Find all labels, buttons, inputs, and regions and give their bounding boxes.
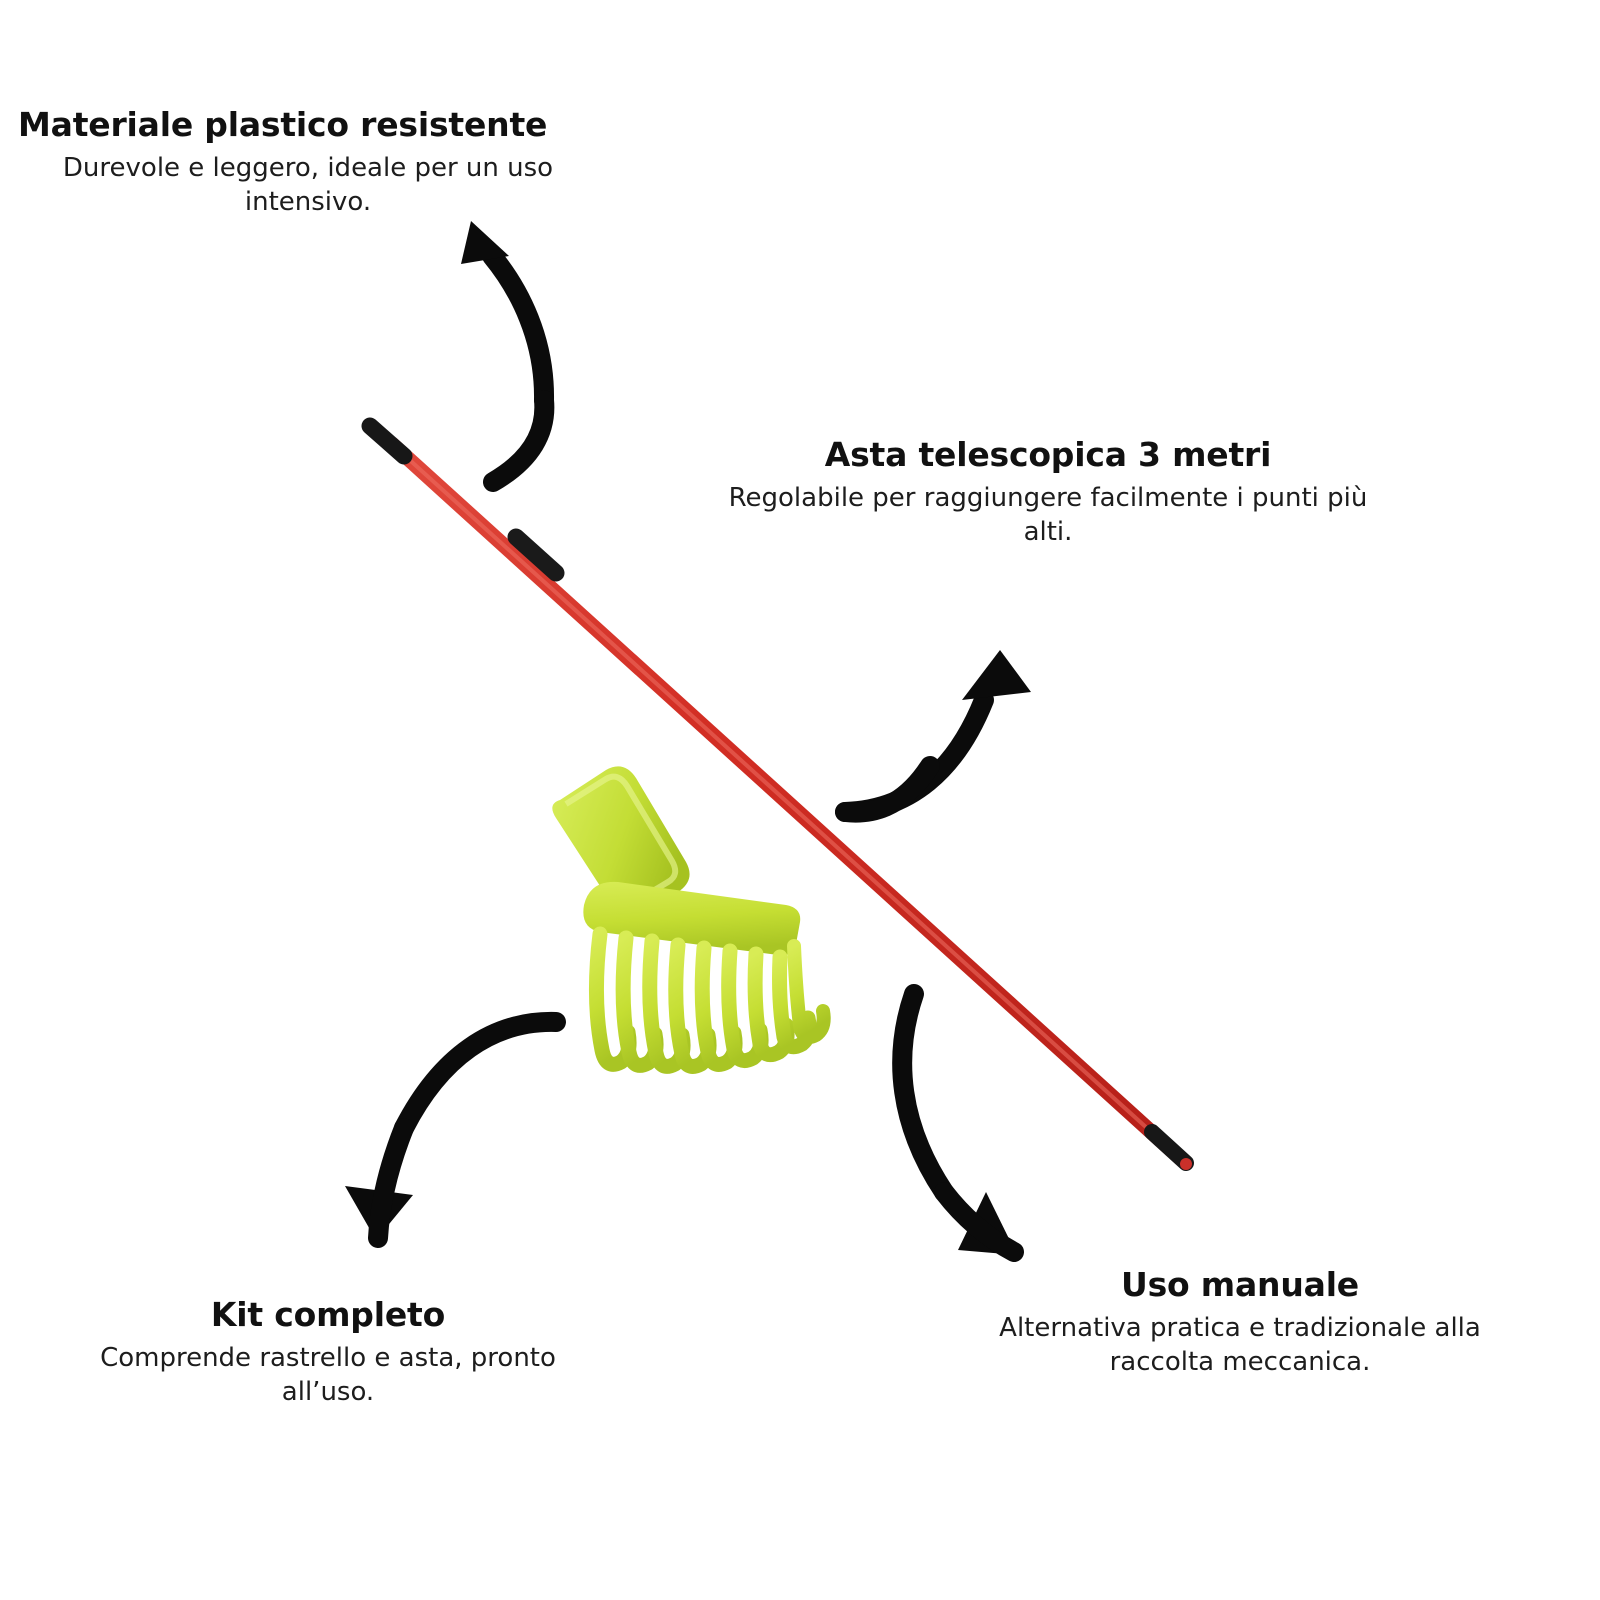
arrow-to-pole (845, 650, 1031, 813)
callout-material-title: Materiale plastico resistente (18, 105, 598, 145)
arrow-to-manual (902, 994, 1017, 1255)
pole-bottom-cap (1152, 1132, 1186, 1163)
callout-kit-title: Kit completo (68, 1295, 588, 1335)
rake-socket (552, 766, 689, 917)
arrow-to-kit (345, 1022, 556, 1240)
callout-pole: Asta telescopica 3 metri Regolabile per … (718, 435, 1378, 549)
callout-manual-title: Uso manuale (970, 1265, 1510, 1305)
callout-manual-description: Alternativa pratica e tradizionale alla … (970, 1311, 1510, 1380)
callout-pole-title: Asta telescopica 3 metri (718, 435, 1378, 475)
pole-top-cap (370, 426, 404, 456)
callout-manual: Uso manuale Alternativa pratica e tradiz… (970, 1265, 1510, 1379)
rake-tines (596, 934, 809, 1066)
callout-material-description: Durevole e leggero, ideale per un uso in… (18, 151, 598, 220)
callout-kit-description: Comprende rastrello e asta, pronto all’u… (68, 1341, 588, 1410)
rake-tine-outer (794, 946, 824, 1037)
arrow-group (345, 221, 1031, 1255)
rake-head (552, 766, 823, 1066)
arrow-to-material (461, 221, 544, 482)
callout-kit: Kit completo Comprende rastrello e asta,… (68, 1295, 588, 1409)
rake-crossbar (583, 882, 800, 955)
callout-pole-description: Regolabile per raggiungere facilmente i … (718, 481, 1378, 550)
callout-material: Materiale plastico resistente Durevole e… (18, 105, 598, 219)
pole-collar (516, 537, 556, 573)
infographic-canvas: Materiale plastico resistente Durevole e… (0, 0, 1600, 1600)
